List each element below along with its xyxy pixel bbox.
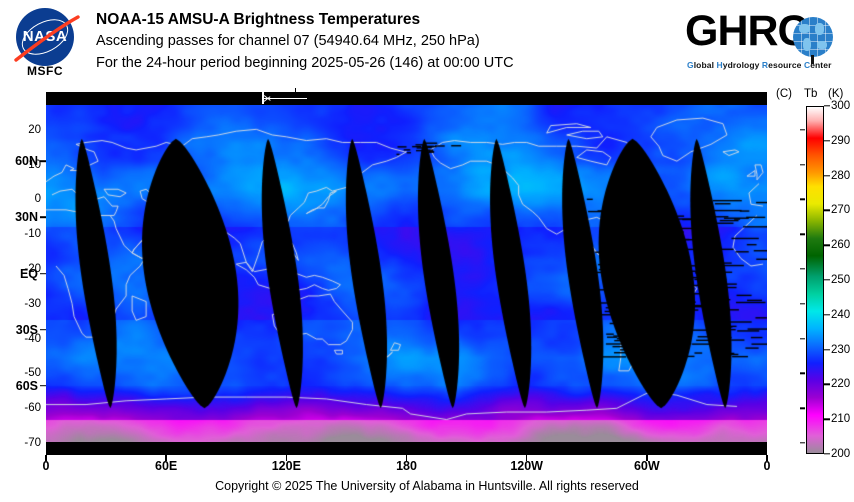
colorbar-kelvin-tick-230: 230 — [831, 344, 850, 356]
colorbar-celsius-tickmark — [800, 373, 805, 374]
lon-tick — [766, 455, 768, 461]
colorbar-celsius-tickmark — [800, 303, 805, 304]
colorbar-kelvin-tickmark — [824, 210, 830, 211]
colorbar-celsius-tickmark — [800, 442, 805, 443]
lat-tick — [40, 217, 46, 219]
colorbar-celsius-tick--30: -30 — [24, 298, 48, 310]
colorbar-celsius-tickmark — [800, 234, 805, 235]
colorbar-celsius-tick--40: -40 — [24, 333, 48, 345]
lat-tick — [40, 329, 46, 331]
colorbar-kelvin-tickmark — [824, 314, 830, 315]
colorbar — [806, 106, 824, 454]
lon-tick — [406, 455, 408, 461]
colorbar-kelvin-tickmark — [824, 244, 830, 245]
map-panel — [46, 92, 767, 455]
lon-tick — [165, 455, 167, 461]
colorbar-kelvin-tick-280: 280 — [831, 170, 850, 182]
nasa-logo: NASA MSFC — [16, 8, 82, 74]
colorbar-celsius-tick--20: -20 — [24, 263, 48, 275]
colorbar-celsius-tickmark — [800, 338, 805, 339]
ghrc-subtitle: Global Hydrology Resource Center — [687, 60, 831, 70]
map-top-band — [46, 92, 767, 105]
brightness-temperature-map — [46, 105, 767, 442]
colorbar-celsius-tick-10: 10 — [28, 159, 48, 171]
colorbar-variable-label: Tb — [804, 88, 817, 100]
colorbar-celsius-tick-0: 0 — [35, 193, 48, 205]
colorbar-kelvin-tick-290: 290 — [831, 135, 850, 147]
lon-tick — [646, 455, 648, 461]
colorbar-kelvin-tick-270: 270 — [831, 204, 850, 216]
lon-label-60W: 60W — [634, 459, 660, 473]
map-bottom-band — [46, 442, 767, 455]
lon-label-0: 0 — [43, 459, 50, 473]
lon-tick — [45, 455, 47, 461]
lon-label-180: 180 — [396, 459, 417, 473]
colorbar-kelvin-tickmark — [824, 384, 830, 385]
copyright-notice: Copyright © 2025 The University of Alaba… — [0, 479, 854, 493]
subtitle-period: For the 24-hour period beginning 2025-05… — [96, 52, 514, 74]
colorbar-gradient — [807, 107, 823, 453]
nasa-swoosh-icon — [12, 12, 82, 64]
colorbar-kelvin-tickmark — [824, 349, 830, 350]
colorbar-kelvin-tick-220: 220 — [831, 378, 850, 390]
colorbar-kelvin-tick-260: 260 — [831, 239, 850, 251]
colorbar-celsius-tickmark — [800, 164, 805, 165]
colorbar-kelvin-tickmark — [824, 418, 830, 419]
colorbar-celsius-tick-20: 20 — [28, 124, 48, 136]
colorbar-kelvin-tick-240: 240 — [831, 309, 850, 321]
colorbar-celsius-tick--50: -50 — [24, 367, 48, 379]
lat-label-30N: 30N — [15, 210, 38, 224]
colorbar-celsius-tick--10: -10 — [24, 228, 48, 240]
lat-tick — [40, 385, 46, 387]
colorbar-celsius-tick--60: -60 — [24, 402, 48, 414]
colorbar-celsius-tickmark — [800, 268, 805, 269]
colorbar-celsius-tickmark — [800, 199, 805, 200]
globe-icon — [793, 17, 833, 57]
lat-label-60S: 60S — [16, 379, 38, 393]
colorbar-kelvin-unit: (K) — [828, 88, 843, 100]
colorbar-kelvin-tick-300: 300 — [831, 100, 850, 112]
ascending-pass-direction-arrow-icon — [262, 92, 308, 105]
colorbar-kelvin-tickmark — [824, 453, 830, 454]
colorbar-celsius-tickmark — [800, 408, 805, 409]
nasa-center-label: MSFC — [16, 64, 74, 78]
colorbar-kelvin-tick-200: 200 — [831, 448, 850, 460]
page-title: NOAA-15 AMSU-A Brightness Temperatures — [96, 10, 514, 30]
lon-label-0: 0 — [764, 459, 771, 473]
colorbar-celsius-tickmark — [800, 129, 805, 130]
colorbar-kelvin-tick-210: 210 — [831, 413, 850, 425]
colorbar-kelvin-tickmark — [824, 105, 830, 106]
colorbar-kelvin-tickmark — [824, 175, 830, 176]
colorbar-kelvin-tick-250: 250 — [831, 274, 850, 286]
header: NASA MSFC NOAA-15 AMSU-A Brightness Temp… — [0, 0, 854, 90]
colorbar-celsius-unit: (C) — [776, 88, 792, 100]
subtitle-channel: Ascending passes for channel 07 (54940.6… — [96, 30, 514, 52]
colorbar-kelvin-tickmark — [824, 279, 830, 280]
lon-label-120E: 120E — [272, 459, 301, 473]
lon-tick — [526, 455, 528, 461]
lon-tick — [286, 455, 288, 461]
ghrc-logo: GHRC Global Hydrology Resource Center — [685, 8, 845, 78]
lon-label-60E: 60E — [155, 459, 177, 473]
colorbar-kelvin-tickmark — [824, 140, 830, 141]
lon-label-120W: 120W — [510, 459, 543, 473]
colorbar-celsius-tick--70: -70 — [24, 437, 48, 449]
title-block: NOAA-15 AMSU-A Brightness Temperatures A… — [96, 10, 514, 74]
ghrc-logo-text: GHRC — [685, 10, 808, 53]
